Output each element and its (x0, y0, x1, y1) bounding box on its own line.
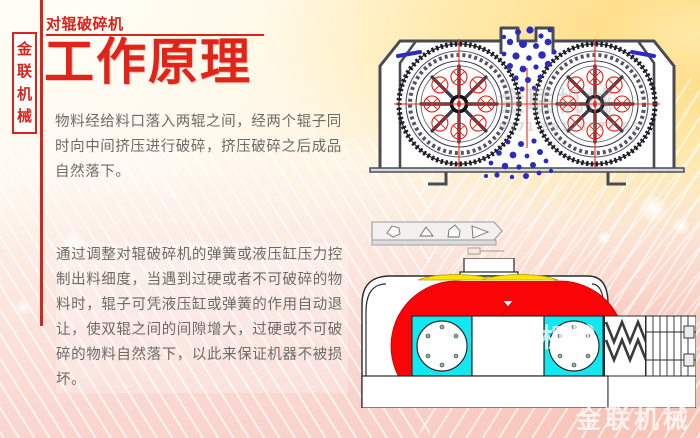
header-subtitle: 对辊破碎机 (46, 13, 124, 34)
poster-canvas: 金 联 机 械 对辊破碎机 工作原理 物料经给料口落入两辊之间，经两个辊子同时向… (0, 0, 700, 438)
logo-char-4: 械 (17, 109, 32, 124)
vertical-red-divider (40, 0, 43, 326)
feed-conveyor-illustration (368, 218, 504, 256)
logo-char-1: 金 (17, 42, 32, 57)
bokeh-dot (673, 218, 689, 234)
paragraph-working-principle: 物料经给料口落入两辊之间，经两个辊子同时向中间挤压进行破碎，挤压破碎之后成品自然… (55, 110, 345, 185)
logo-char-2: 联 (17, 64, 32, 79)
page-title: 工作原理 (44, 36, 252, 88)
paragraph-adjustment-protection: 通过调整对辊破碎机的弹簧或液压缸压力控制出料细度，当遇到过硬或者不可破碎的物料时… (56, 243, 348, 393)
logo-char-3: 机 (17, 87, 32, 102)
bokeh-dot (16, 300, 30, 314)
roller-crusher-structure-diagram (360, 258, 696, 408)
roller-crusher-cutaway-diagram (358, 8, 696, 208)
brand-logo-badge: 金 联 机 械 (12, 32, 37, 134)
bokeh-dot (598, 232, 610, 244)
